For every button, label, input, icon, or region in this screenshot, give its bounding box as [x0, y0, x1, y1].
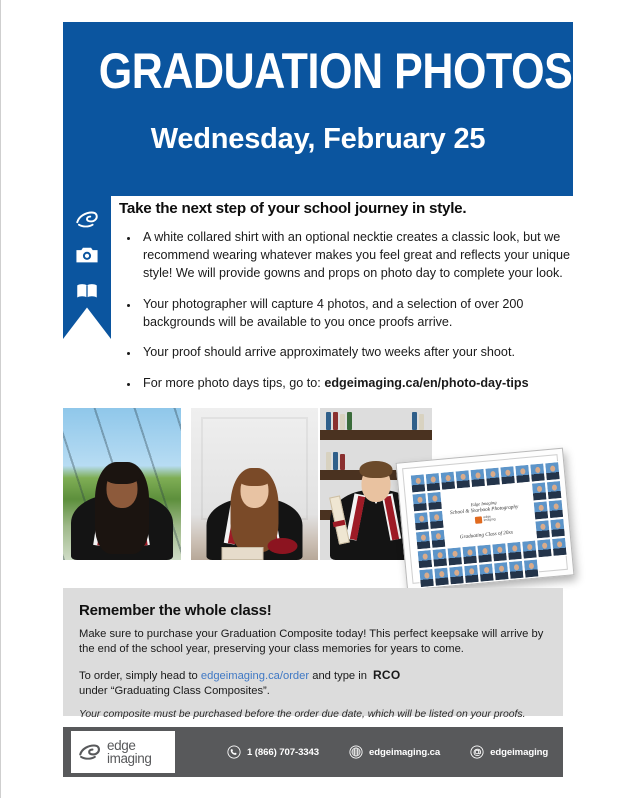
footer-contacts: 1 (866) 707-3343 edgeimaging.ca edgeimag… — [227, 745, 548, 759]
contact-phone[interactable]: 1 (866) 707-3343 — [227, 745, 319, 759]
logo-text-imaging: imaging — [107, 751, 151, 766]
icon-ribbon — [63, 196, 111, 339]
event-date: Wednesday, February 25 — [63, 97, 573, 156]
list-item: Your proof should arrive approximately t… — [119, 344, 589, 362]
website-url: edgeimaging.ca — [369, 747, 440, 758]
composite-info-panel: Remember the whole class! Make sure to p… — [63, 588, 563, 716]
gray-panel-paragraph: Make sure to purchase your Graduation Co… — [79, 627, 547, 658]
page-title: GRADUATION PHOTOS — [99, 22, 538, 97]
graduate-portrait-studio — [191, 408, 318, 560]
order-link[interactable]: edgeimaging.ca/order — [201, 670, 309, 682]
header-banner: GRADUATION PHOTOS Wednesday, February 25 — [63, 22, 573, 196]
photo-day-tips-link[interactable]: edgeimaging.ca/en/photo-day-tips — [324, 376, 528, 390]
tips-list: A white collared shirt with an optional … — [119, 229, 589, 393]
list-item: A white collared shirt with an optional … — [119, 229, 589, 283]
contact-social[interactable]: edgeimaging — [470, 745, 548, 759]
lede-text: Take the next step of your school journe… — [119, 200, 589, 217]
edge-swirl-icon — [74, 206, 100, 232]
order-instructions: To order, simply head to edgeimaging.ca/… — [79, 667, 547, 700]
social-handle: edgeimaging — [490, 747, 548, 758]
edge-logo-mark — [474, 516, 482, 524]
at-icon — [470, 745, 484, 759]
list-item: For more photo days tips, go to: edgeima… — [119, 375, 589, 393]
body-content: Take the next step of your school journe… — [119, 200, 589, 406]
book-icon — [74, 278, 100, 304]
camera-icon — [74, 242, 100, 268]
phone-icon — [227, 745, 241, 759]
gray-panel-title: Remember the whole class! — [79, 602, 547, 619]
graduate-portrait-outdoor — [63, 408, 181, 560]
composite-center-text: Edge Imaging School & Yearbook Photograp… — [442, 497, 529, 542]
purchase-deadline-note: Your composite must be purchased before … — [79, 709, 547, 720]
edge-swirl-icon — [77, 739, 103, 765]
class-composite-panel: Edge Imaging School & Yearbook Photograp… — [396, 448, 575, 591]
contact-website[interactable]: edgeimaging.ca — [349, 745, 440, 759]
school-code: RCO — [373, 668, 401, 682]
footer-bar: edge imaging 1 (866) 707-3343 edgeim — [63, 727, 563, 777]
phone-number: 1 (866) 707-3343 — [247, 747, 319, 758]
globe-icon — [349, 745, 363, 759]
flyer-page: GRADUATION PHOTOS Wednesday, February 25… — [0, 0, 622, 798]
list-item: Your photographer will capture 4 photos,… — [119, 296, 589, 332]
edge-imaging-logo: edge imaging — [71, 731, 175, 773]
